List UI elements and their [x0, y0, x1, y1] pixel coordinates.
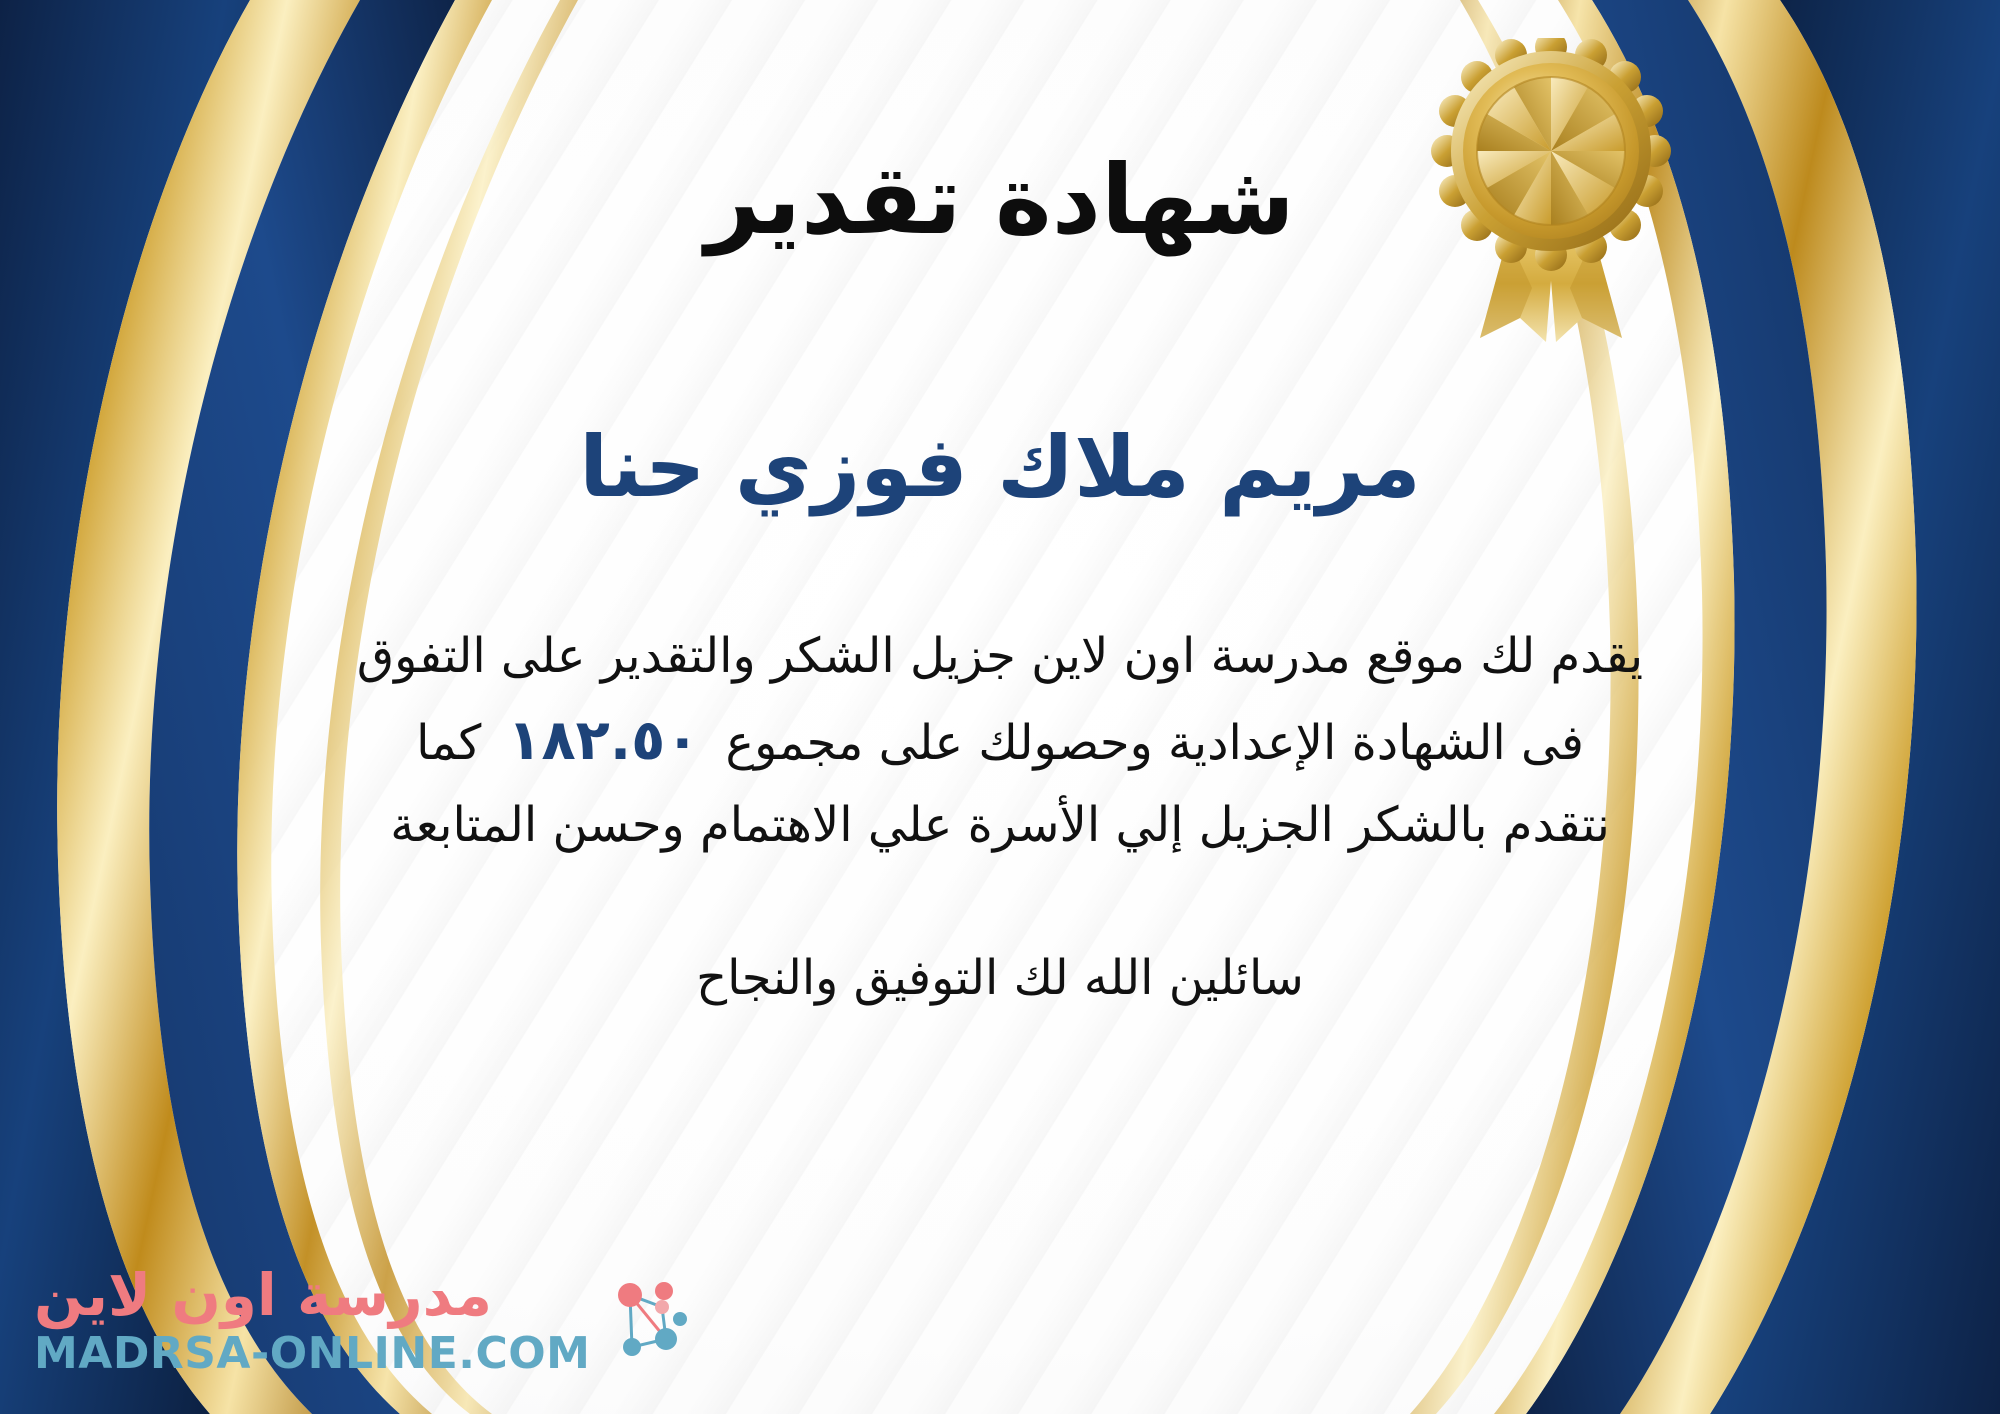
brand-logo[interactable]: مدرسة اون لاين MADRSA-ONLINE.COM: [34, 1265, 690, 1378]
body-line-2: فى الشهادة الإعدادية وحصولك على مجموع١٨٢…: [150, 696, 1850, 787]
body-line-3: نتقدم بالشكر الجزيل إلي الأسرة علي الاهت…: [150, 787, 1850, 865]
brand-text: مدرسة اون لاين MADRSA-ONLINE.COM: [34, 1265, 590, 1378]
recipient-name: مريم ملاك فوزي حنا: [579, 421, 1421, 513]
brand-website: MADRSA-ONLINE.COM: [34, 1330, 590, 1378]
network-nodes-icon: [604, 1273, 690, 1369]
brand-arabic-name: مدرسة اون لاين: [34, 1265, 492, 1326]
certificate-content: شهادة تقدير مريم ملاك فوزي حنا يقدم لك م…: [0, 0, 2000, 1414]
page-title: شهادة تقدير: [705, 150, 1295, 251]
total-score-value: ١٨٢.٥٠: [481, 708, 725, 773]
closing-wish: سائلين الله لك التوفيق والنجاح: [696, 950, 1304, 1006]
body-line-1: يقدم لك موقع مدرسة اون لاين جزيل الشكر و…: [150, 618, 1850, 696]
certificate-body: يقدم لك موقع مدرسة اون لاين جزيل الشكر و…: [150, 618, 1850, 864]
body-line-2-prefix: فى الشهادة الإعدادية وحصولك على مجموع: [725, 715, 1583, 771]
certificate-page: شهادة تقدير مريم ملاك فوزي حنا يقدم لك م…: [0, 0, 2000, 1414]
body-line-2-suffix: كما: [416, 715, 481, 771]
